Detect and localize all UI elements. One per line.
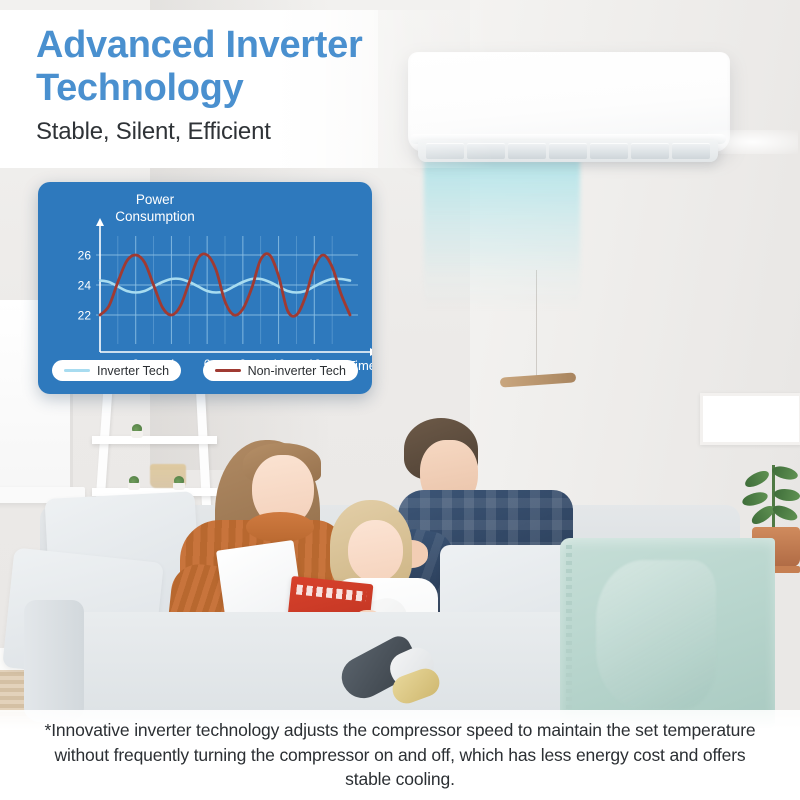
chart-title-line1: Power (80, 192, 230, 209)
legend-label-inverter: Inverter Tech (97, 364, 169, 378)
legend-item-non-inverter: Non-inverter Tech (203, 360, 358, 381)
page-title: Advanced Inverter Technology (36, 24, 456, 109)
wall-picture-frame (700, 393, 800, 445)
promo-image: Advanced Inverter Technology Stable, Sil… (0, 0, 800, 800)
throw-blanket-fringe (566, 545, 572, 715)
page-subtitle: Stable, Silent, Efficient (36, 118, 271, 146)
legend-label-non-inverter: Non-inverter Tech (248, 364, 346, 378)
chart-title: Power Consumption (80, 192, 230, 226)
throw-blanket-fold (596, 560, 716, 710)
legend-item-inverter: Inverter Tech (52, 360, 181, 381)
chart-panel: 22242624681012Time Power Consumption Inv… (38, 182, 372, 394)
chart-legend: Inverter Tech Non-inverter Tech (52, 360, 358, 381)
svg-text:22: 22 (78, 309, 92, 323)
cool-air-plume (424, 160, 580, 310)
svg-text:26: 26 (78, 249, 92, 263)
legend-swatch-inverter (64, 369, 90, 372)
legend-swatch-non-inverter (215, 369, 241, 372)
potted-plant-small (170, 476, 187, 489)
sofa-arm (24, 600, 84, 720)
chart-title-line2: Consumption (80, 209, 230, 226)
page-title-line1: Advanced Inverter (36, 24, 456, 67)
footnote-text: *Innovative inverter technology adjusts … (30, 718, 770, 793)
shelf-board (92, 436, 217, 444)
svg-text:24: 24 (78, 279, 92, 293)
potted-plant-small (128, 424, 145, 437)
potted-plant-small (125, 476, 142, 489)
footnote-banner: *Innovative inverter technology adjusts … (0, 710, 800, 800)
page-title-line2: Technology (36, 67, 456, 110)
